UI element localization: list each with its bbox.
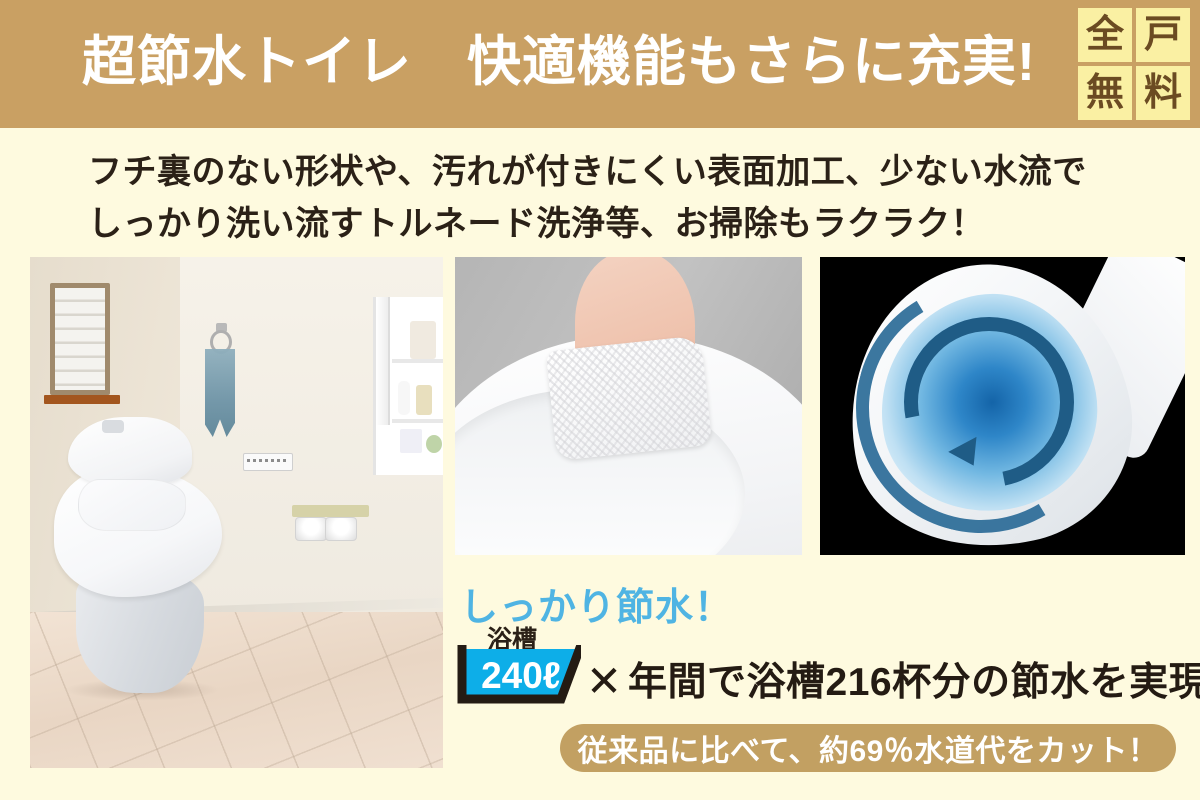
saving-sentence: 年間で浴槽216杯分の節水を実現 [628, 658, 1200, 708]
window-sill [44, 395, 120, 404]
wiping-rim-photo [455, 257, 802, 555]
toilet-lid [78, 479, 186, 531]
multiply-icon: ✕ [586, 657, 622, 707]
cabinet-frame-item [400, 429, 422, 453]
cabinet-box-item [410, 321, 436, 359]
water-cost-cut-text: 従来品に比べて、約69％水道代をカット！ [578, 726, 1159, 770]
toilet-tank [68, 417, 192, 485]
badge-cell-mu: 無 [1078, 66, 1132, 120]
page-title: 超節水トイレ 快適機能もさらに充実! [82, 24, 1036, 100]
cabinet-plant-item [426, 435, 442, 453]
window-glass [55, 288, 105, 390]
toilet-control-panel [243, 453, 293, 471]
badge-cell-ko: 戸 [1136, 8, 1190, 62]
toilet-paper-roll-right [325, 517, 357, 541]
description-text: フチ裏のない形状や、汚れが付きにくい表面加工、少ない水流で しっかり洗い流すトル… [88, 146, 1088, 250]
toilet-paper-roll-left [295, 517, 327, 541]
bathtub-icon: 240ℓ [457, 645, 581, 707]
wall-cabinet [373, 297, 443, 475]
description-line-1: フチ裏のない形状や、汚れが付きにくい表面加工、少ない水流で [88, 146, 1088, 198]
cabinet-shelf-2 [392, 419, 443, 423]
badge-cell-ryo: 料 [1136, 66, 1190, 120]
description-line-2: しっかり洗い流すトルネード洗浄等、お掃除もラクラク！ [88, 198, 1088, 250]
cabinet-shelf-1 [392, 359, 443, 363]
bathtub-volume-value: 240ℓ [469, 654, 573, 698]
flush-button [102, 420, 124, 433]
cabinet-jar-item [416, 385, 432, 415]
water-cost-cut-badge: 従来品に比べて、約69％水道代をカット！ [560, 724, 1176, 772]
cabinet-door [376, 297, 390, 425]
toilet-unit [52, 417, 232, 707]
toilet-room-photo [30, 257, 443, 768]
cabinet-bottle-item [398, 381, 410, 415]
header-band: 超節水トイレ 快適機能もさらに充実! 全 戸 無 料 [0, 0, 1200, 128]
advertisement-page: 超節水トイレ 快適機能もさらに充実! 全 戸 無 料 フチ裏のない形状や、汚れが… [0, 0, 1200, 800]
cleaning-cloth [546, 335, 713, 461]
free-for-all-units-badge: 全 戸 無 料 [1078, 8, 1190, 120]
tornado-flush-photo [820, 257, 1185, 555]
paper-holder-shelf [292, 505, 369, 517]
badge-cell-zen: 全 [1078, 8, 1132, 62]
window-frame [50, 283, 110, 395]
